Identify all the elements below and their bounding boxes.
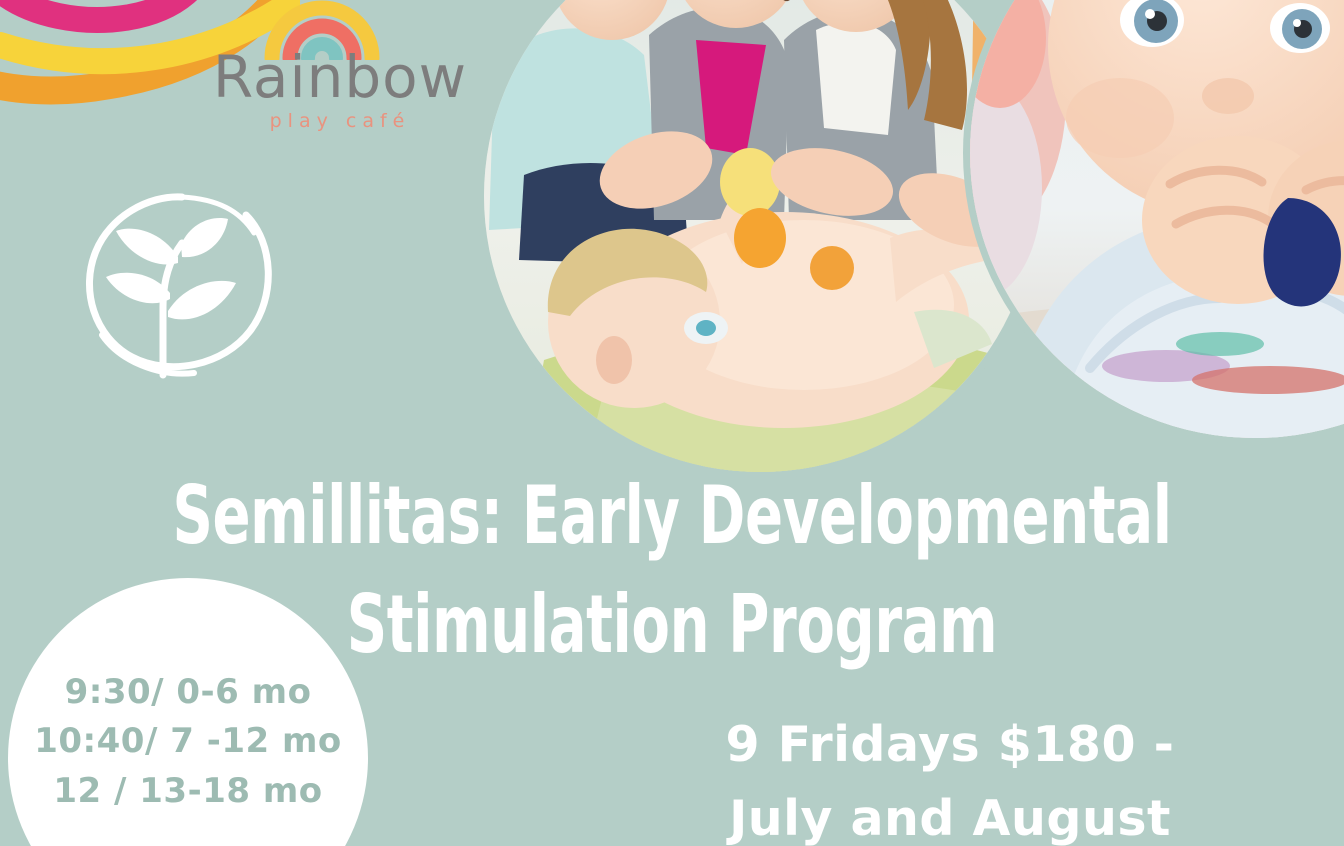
promo-poster: Rainbow play café bbox=[0, 0, 1344, 846]
brand-name: Rainbow bbox=[205, 48, 475, 106]
sprout-in-circle-icon bbox=[78, 185, 278, 390]
schedule-list: 9:30/ 0-6 mo 10:40/ 7 -12 mo 12 / 13-18 … bbox=[8, 668, 368, 816]
mothers-with-baby-photo bbox=[484, 0, 1036, 472]
photo-collage bbox=[470, 0, 1344, 465]
baby-with-toy-photo bbox=[970, 0, 1344, 438]
headline-line-1: Semillitas: Early Developmental bbox=[148, 462, 1196, 571]
brand-wordmark: Rainbow play café bbox=[205, 48, 475, 131]
schedule-row: 12 / 13-18 mo bbox=[8, 767, 368, 816]
pricing-block: 9 Fridays $180 - July and August bbox=[640, 708, 1260, 846]
schedule-row: 9:30/ 0-6 mo bbox=[8, 668, 368, 717]
pricing-line-2: July and August bbox=[640, 782, 1260, 846]
brand-tagline: play café bbox=[205, 112, 475, 131]
schedule-row: 10:40/ 7 -12 mo bbox=[8, 717, 368, 766]
pricing-line-1: 9 Fridays $180 - bbox=[640, 708, 1260, 782]
